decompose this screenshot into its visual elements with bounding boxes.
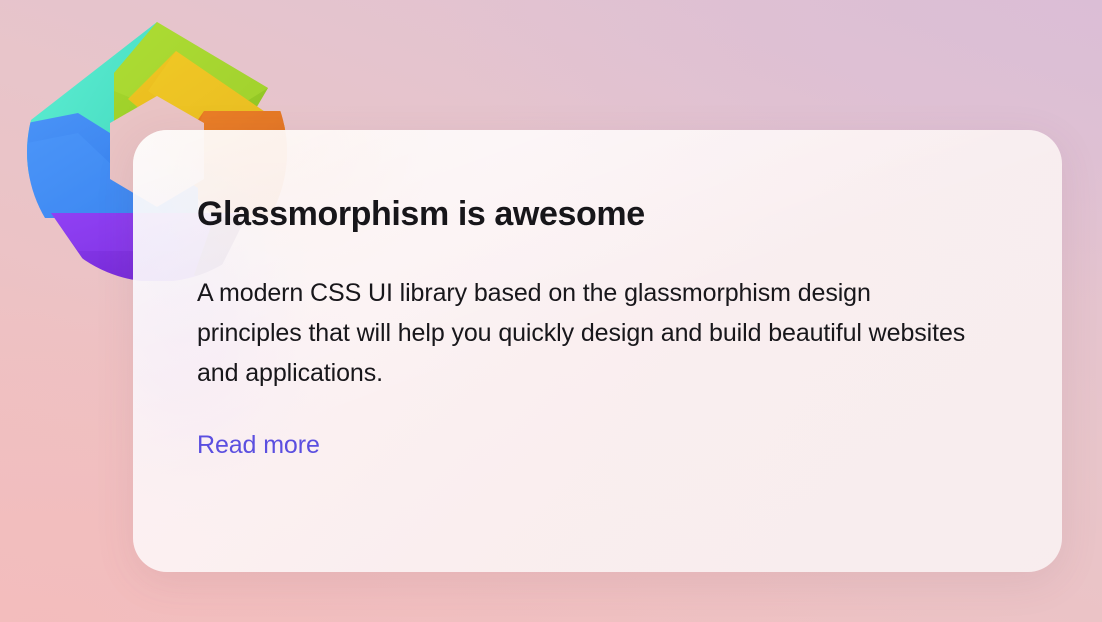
- glass-card: Glassmorphism is awesome A modern CSS UI…: [133, 130, 1062, 572]
- card-title: Glassmorphism is awesome: [197, 196, 1062, 233]
- page-root: Glassmorphism is awesome A modern CSS UI…: [0, 0, 1102, 622]
- read-more-link[interactable]: Read more: [197, 431, 320, 460]
- card-body-text: A modern CSS UI library based on the gla…: [197, 273, 967, 393]
- card-content: Glassmorphism is awesome A modern CSS UI…: [133, 130, 1062, 572]
